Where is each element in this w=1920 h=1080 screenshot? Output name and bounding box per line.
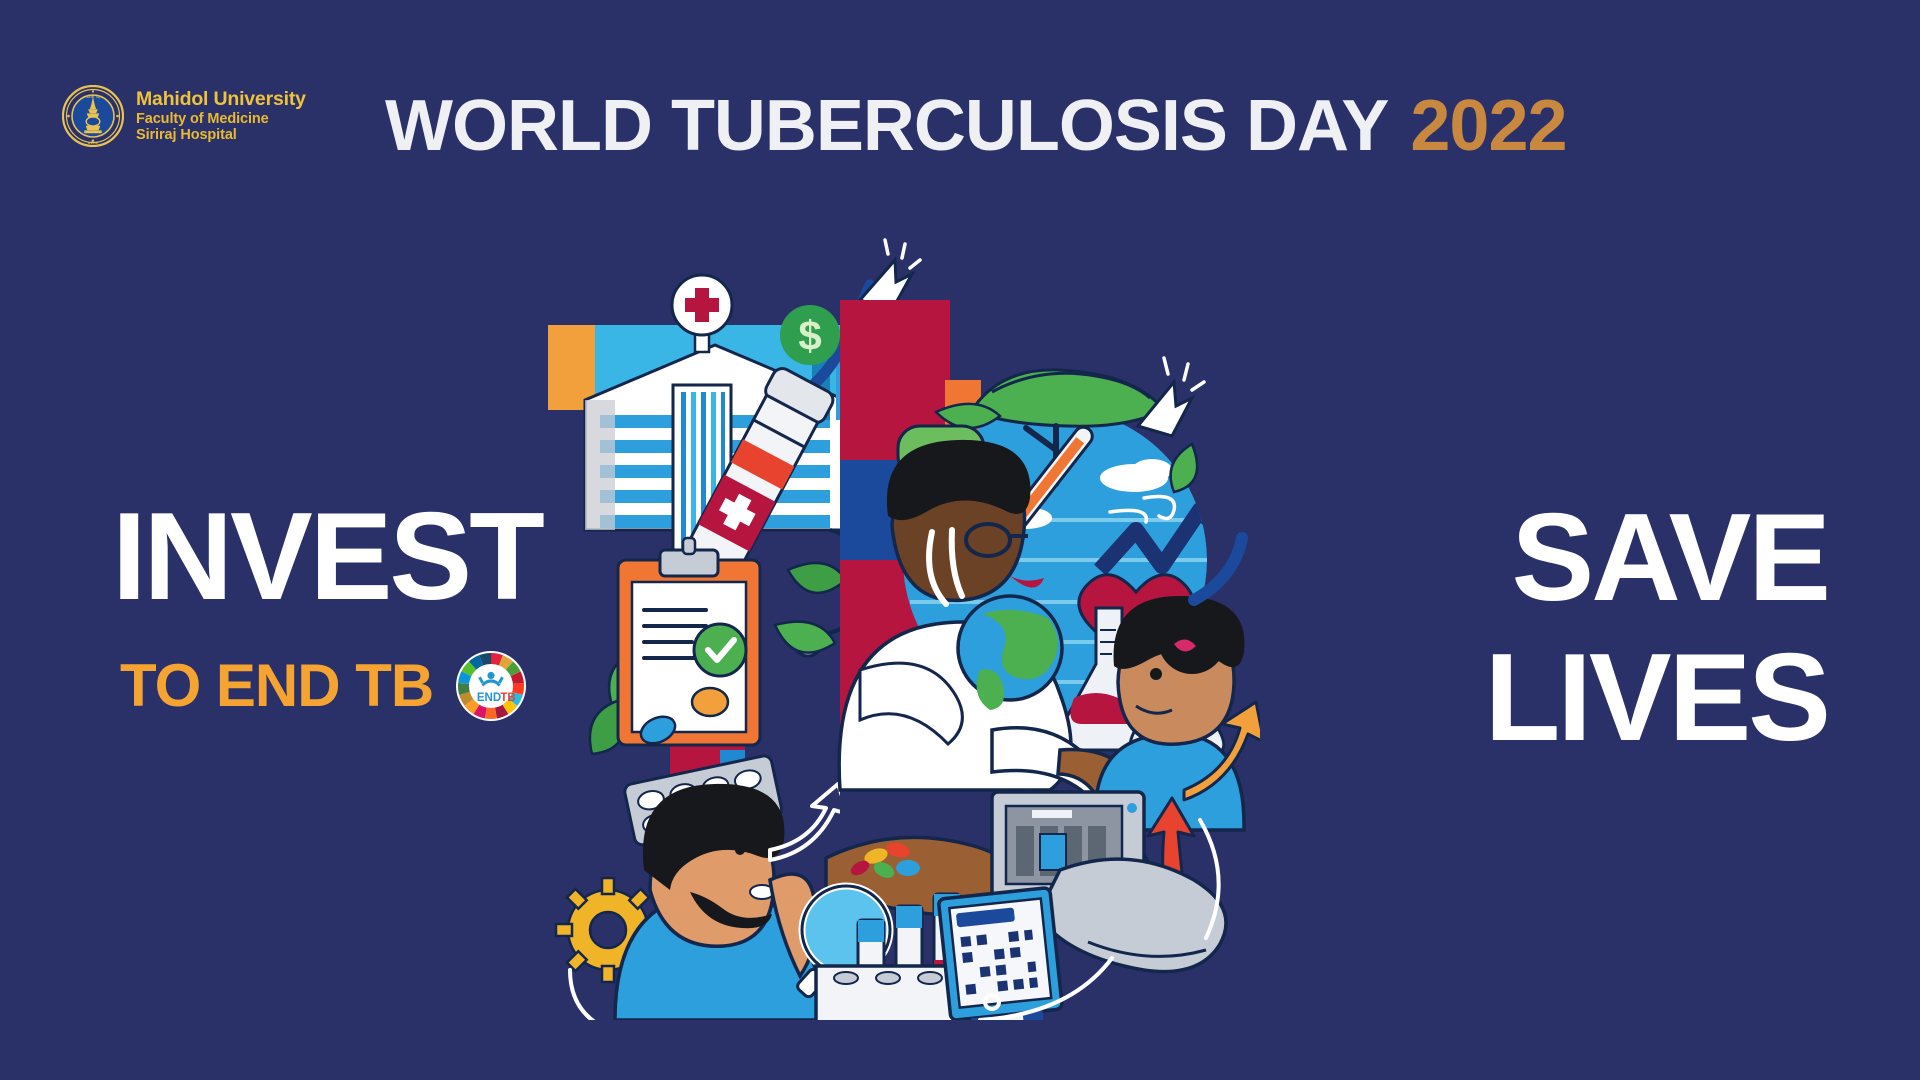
- machine-led: [1127, 803, 1137, 813]
- clipboard-checklist-icon: [618, 538, 760, 748]
- green-check-icon: [694, 624, 746, 676]
- gloved-hand-icon: [1038, 859, 1226, 971]
- slogan-right: SAVE LIVES: [1485, 500, 1828, 758]
- end-tb-logo-text-end: END: [477, 692, 501, 704]
- page-title-main: WORLD TUBERCULOSIS DAY: [385, 86, 1388, 166]
- tb-letterform-illustration: $: [540, 230, 1260, 1020]
- brand-line-hospital: Siriraj Hospital: [136, 127, 306, 143]
- svg-text:มหิดล: มหิดล: [88, 140, 99, 145]
- brand-line-university: Mahidol University: [136, 89, 306, 111]
- leaf-icon-upper: [1171, 444, 1198, 492]
- poster-canvas: อตตานุ มหิดล Mahidol University Faculty …: [0, 0, 1920, 1080]
- end-tb-sdg-wheel-icon: END TB: [455, 650, 527, 722]
- page-title-year: 2022: [1410, 86, 1566, 166]
- slogan-end-tb-row: TO END TB: [120, 650, 542, 722]
- end-tb-logo-text-tb: TB: [501, 692, 516, 704]
- qr-cartridge-icon: [938, 888, 1064, 1020]
- mahidol-university-seal-icon: อตตานุ มหิดล: [62, 85, 124, 147]
- brand-text-block: Mahidol University Faculty of Medicine S…: [136, 89, 306, 143]
- page-title: WORLD TUBERCULOSIS DAY2022: [385, 90, 1567, 162]
- brand-lockup: อตตานุ มหิดล Mahidol University Faculty …: [62, 85, 306, 147]
- svg-text:$: $: [798, 312, 821, 359]
- child-eye: [1150, 668, 1162, 680]
- slogan-left: INVEST TO END TB: [112, 500, 542, 722]
- slogan-to-end-tb: TO END TB: [120, 656, 433, 716]
- machine-slot: [1040, 834, 1066, 870]
- child-bun: [1158, 606, 1226, 674]
- slogan-lives: LIVES: [1485, 640, 1828, 758]
- slogan-save: SAVE: [1485, 500, 1828, 618]
- dollar-coin-icon: $: [780, 305, 840, 365]
- orange-pill-icon: [692, 688, 728, 716]
- patient-eye: [735, 845, 745, 855]
- brand-line-faculty: Faculty of Medicine: [136, 111, 306, 127]
- slogan-invest: INVEST: [112, 500, 542, 614]
